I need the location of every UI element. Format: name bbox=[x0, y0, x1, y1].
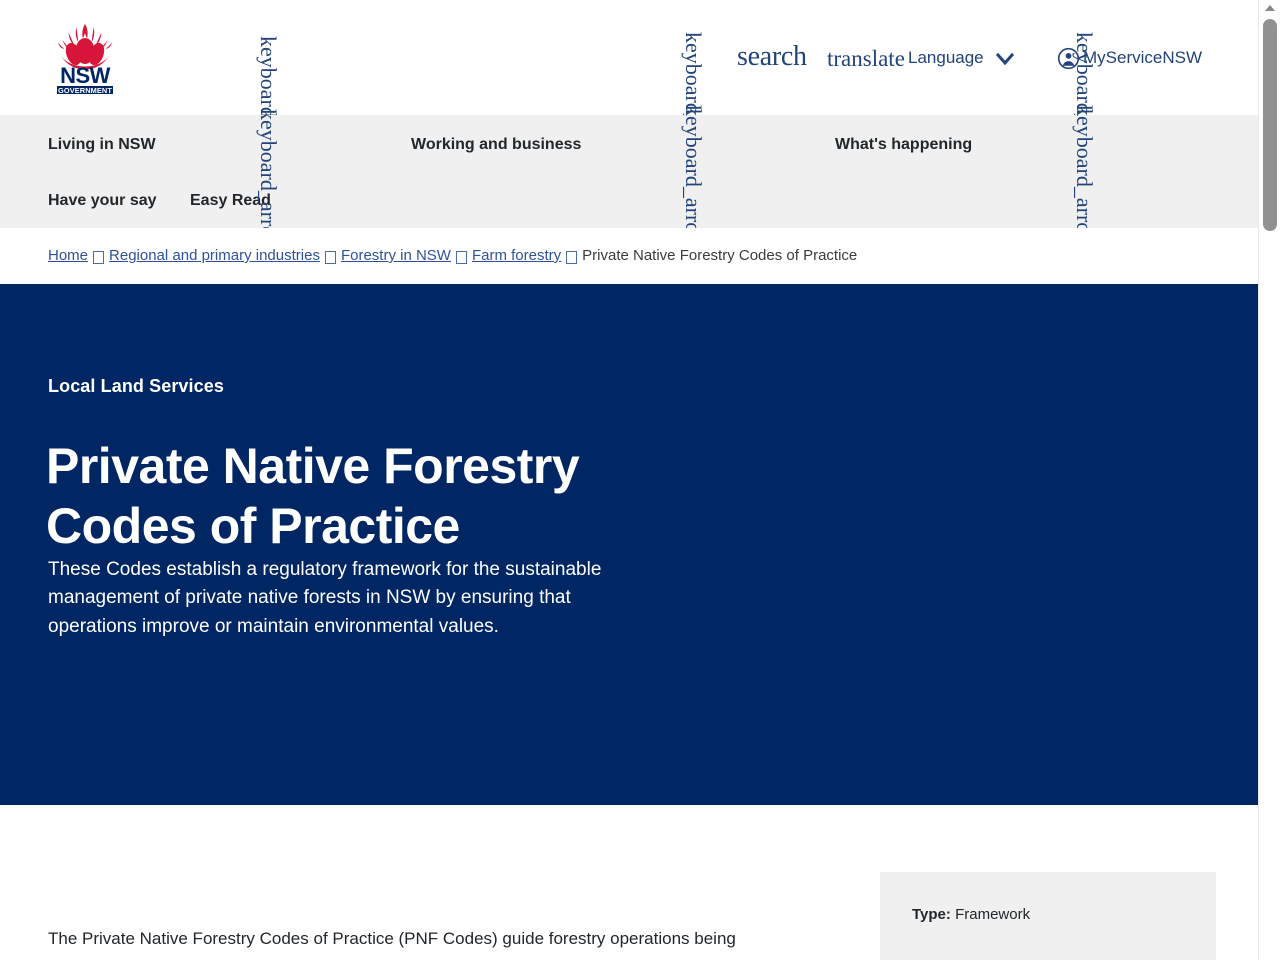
svg-text:GOVERNMENT: GOVERNMENT bbox=[58, 86, 112, 94]
breadcrumb-separator-icon bbox=[93, 251, 104, 264]
info-type-value: Framework bbox=[955, 906, 1030, 923]
hero-banner: Local Land Services Private Native Fores… bbox=[0, 284, 1258, 805]
page-viewport: NSW GOVERNMENT keyboard_arrow_right keyb… bbox=[0, 0, 1258, 960]
language-selector-label[interactable]: Language bbox=[908, 48, 984, 68]
svg-text:NSW: NSW bbox=[60, 63, 111, 88]
page-info-box: Type: Framework bbox=[880, 872, 1216, 960]
vertical-scrollbar[interactable] bbox=[1258, 0, 1280, 960]
intro-paragraph: The Private Native Forestry Codes of Pra… bbox=[48, 924, 788, 960]
info-type-row: Type: Framework bbox=[912, 906, 1030, 923]
info-type-label: Type: bbox=[912, 906, 951, 923]
site-masthead: NSW GOVERNMENT keyboard_arrow_right keyb… bbox=[0, 0, 1258, 115]
breadcrumb-item-farm-forestry[interactable]: Farm forestry bbox=[472, 247, 561, 264]
scroll-up-arrow-icon[interactable] bbox=[1259, 0, 1280, 16]
translate-link[interactable]: translate bbox=[827, 46, 905, 72]
breadcrumb-separator-icon bbox=[566, 251, 577, 264]
breadcrumb-item-current: Private Native Forestry Codes of Practic… bbox=[582, 247, 857, 264]
hero-description: These Codes establish a regulatory frame… bbox=[48, 556, 603, 641]
browser-page: NSW GOVERNMENT keyboard_arrow_right keyb… bbox=[0, 0, 1280, 960]
search-link[interactable]: search bbox=[737, 41, 807, 73]
intro-text-before-link: The Private Native Forestry Codes of Pra… bbox=[48, 929, 736, 960]
breadcrumb-item-regional-and-primary-industries[interactable]: Regional and primary industries bbox=[109, 247, 320, 264]
nav-item-whats-happening[interactable]: What's happening bbox=[835, 136, 972, 154]
chevron-down-icon[interactable] bbox=[995, 50, 1015, 68]
myservicensw-link[interactable]: MyServiceNSW bbox=[1083, 48, 1202, 68]
breadcrumb-separator-icon bbox=[325, 251, 336, 264]
nav-item-working-and-business[interactable]: Working and business bbox=[411, 136, 581, 154]
breadcrumb-item-forestry-in-nsw[interactable]: Forestry in NSW bbox=[341, 247, 451, 264]
page-title: Private Native Forestry Codes of Practic… bbox=[46, 436, 606, 556]
breadcrumb-separator-icon bbox=[456, 251, 467, 264]
main-content: The Private Native Forestry Codes of Pra… bbox=[0, 805, 1258, 960]
primary-navigation: Living in NSW Working and business What'… bbox=[0, 115, 1258, 228]
hero-eyebrow-label: Local Land Services bbox=[48, 376, 224, 397]
nav-item-have-your-say[interactable]: Have your say bbox=[48, 192, 157, 210]
nav-item-living-in-nsw[interactable]: Living in NSW bbox=[48, 136, 156, 154]
vertical-scroll-thumb[interactable] bbox=[1263, 19, 1277, 231]
account-circle-icon[interactable] bbox=[1057, 47, 1080, 70]
breadcrumb: Home Regional and primary industries For… bbox=[0, 228, 1258, 284]
breadcrumb-item-home[interactable]: Home bbox=[48, 247, 88, 264]
nav-item-easy-read[interactable]: Easy Read bbox=[190, 192, 271, 210]
nsw-government-waratah-logo[interactable]: NSW GOVERNMENT bbox=[48, 20, 122, 94]
